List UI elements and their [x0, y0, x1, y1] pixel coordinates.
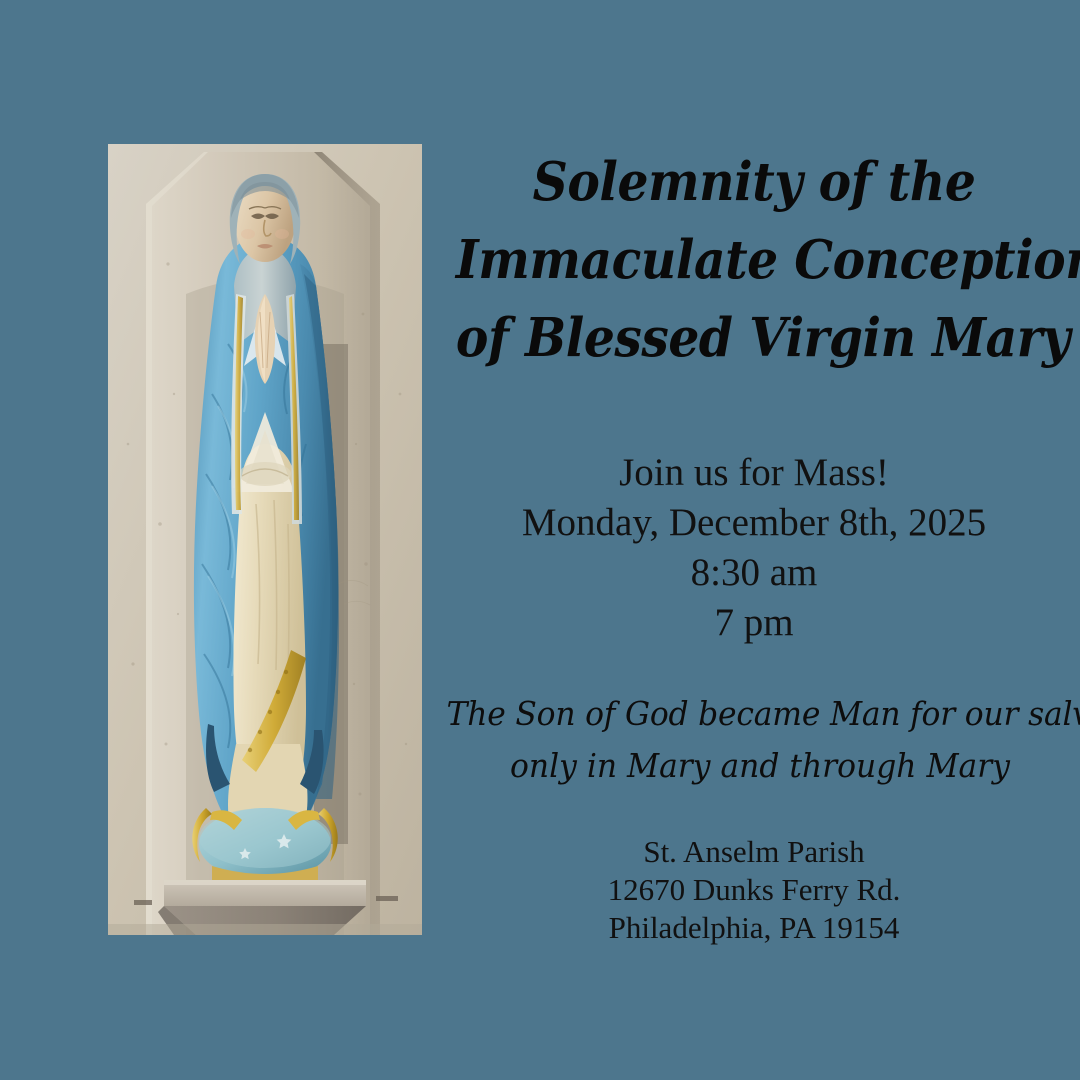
parish-city-state-zip: Philadelphia, PA 19154: [430, 909, 1078, 947]
event-title: Solemnity of the Immaculate Conception o…: [430, 143, 1078, 377]
mass-date: Monday, December 8th, 2025: [430, 498, 1078, 548]
quote: The Son of God became Man for our salvat…: [430, 688, 1080, 792]
title-line-3: of Blessed Virgin Mary: [456, 299, 1052, 377]
mass-time-morning: 8:30 am: [430, 548, 1078, 598]
mary-statue-photo: [108, 144, 422, 935]
mass-invitation: Join us for Mass!: [430, 448, 1078, 498]
flyer-canvas: Solemnity of the Immaculate Conception o…: [0, 0, 1080, 1080]
parish-name: St. Anselm Parish: [430, 833, 1078, 871]
text-column: Solemnity of the Immaculate Conception o…: [430, 0, 1080, 1080]
quote-line-2: only in Mary and through Mary: [447, 740, 1074, 792]
mass-schedule: Join us for Mass! Monday, December 8th, …: [430, 448, 1078, 648]
parish-address: St. Anselm Parish 12670 Dunks Ferry Rd. …: [430, 833, 1078, 947]
title-line-2: Immaculate Conception: [456, 221, 1052, 299]
mary-statue-illustration: [108, 144, 422, 935]
parish-street: 12670 Dunks Ferry Rd.: [430, 871, 1078, 909]
mass-time-evening: 7 pm: [430, 598, 1078, 648]
title-line-1: Solemnity of the: [456, 143, 1052, 221]
quote-line-1: The Son of God became Man for our salvat…: [447, 688, 1074, 740]
